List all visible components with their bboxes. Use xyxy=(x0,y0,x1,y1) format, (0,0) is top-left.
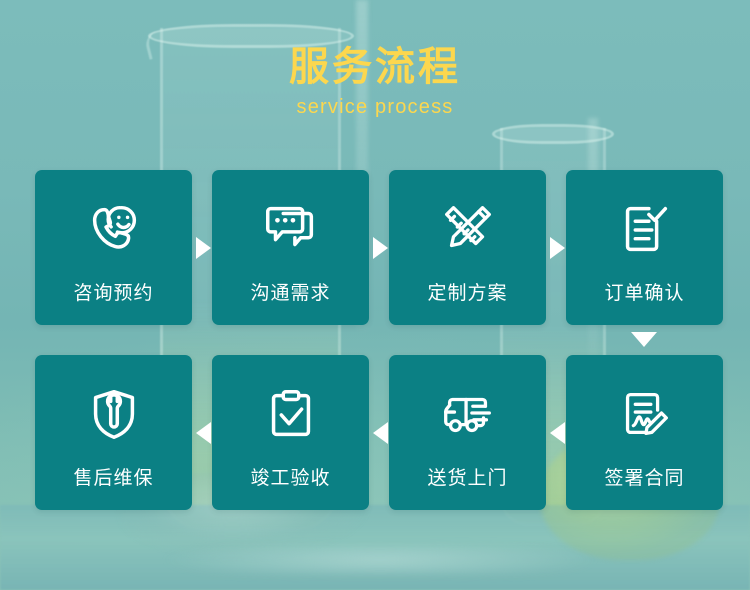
document-check-icon xyxy=(612,196,678,262)
chat-bubbles-icon xyxy=(258,196,324,262)
step-card-after-sales[interactable]: 售后维保 xyxy=(35,355,192,510)
step-card-label: 咨询预约 xyxy=(73,278,153,305)
step-card-label: 签署合同 xyxy=(604,463,684,490)
step-card-order-confirm[interactable]: 订单确认 xyxy=(566,170,723,325)
step-card-delivery[interactable]: 送货上门 xyxy=(389,355,546,510)
arrow-step4-to-step5-icon xyxy=(631,332,657,347)
step-card-label: 竣工验收 xyxy=(250,463,330,490)
arrow-step7-to-step8-icon xyxy=(196,422,211,444)
clipboard-check-icon xyxy=(258,381,324,447)
arrow-step1-to-step2-icon xyxy=(196,237,211,259)
step-card-consultation[interactable]: 咨询预约 xyxy=(35,170,192,325)
background-table-reflection xyxy=(120,545,640,575)
step-card-communication[interactable]: 沟通需求 xyxy=(212,170,369,325)
phone-smile-icon xyxy=(81,196,147,262)
arrow-step6-to-step7-icon xyxy=(373,422,388,444)
process-steps-grid: 咨询预约 沟通需求 xyxy=(35,170,723,510)
step-card-label: 订单确认 xyxy=(604,278,684,305)
arrow-step3-to-step4-icon xyxy=(550,237,565,259)
arrow-step5-to-step6-icon xyxy=(550,422,565,444)
step-card-contract[interactable]: 签署合同 xyxy=(566,355,723,510)
step-card-acceptance[interactable]: 竣工验收 xyxy=(212,355,369,510)
step-card-label: 送货上门 xyxy=(427,463,507,490)
delivery-truck-icon xyxy=(435,381,501,447)
pencil-ruler-icon xyxy=(435,196,501,262)
service-process-infographic: 服务流程 service process 咨询预约 xyxy=(0,0,750,590)
step-card-custom-plan[interactable]: 定制方案 xyxy=(389,170,546,325)
step-card-label: 售后维保 xyxy=(73,463,153,490)
arrow-step2-to-step3-icon xyxy=(373,237,388,259)
contract-sign-icon xyxy=(612,381,678,447)
step-card-label: 沟通需求 xyxy=(250,278,330,305)
shield-wrench-icon xyxy=(81,381,147,447)
step-card-label: 定制方案 xyxy=(427,278,507,305)
